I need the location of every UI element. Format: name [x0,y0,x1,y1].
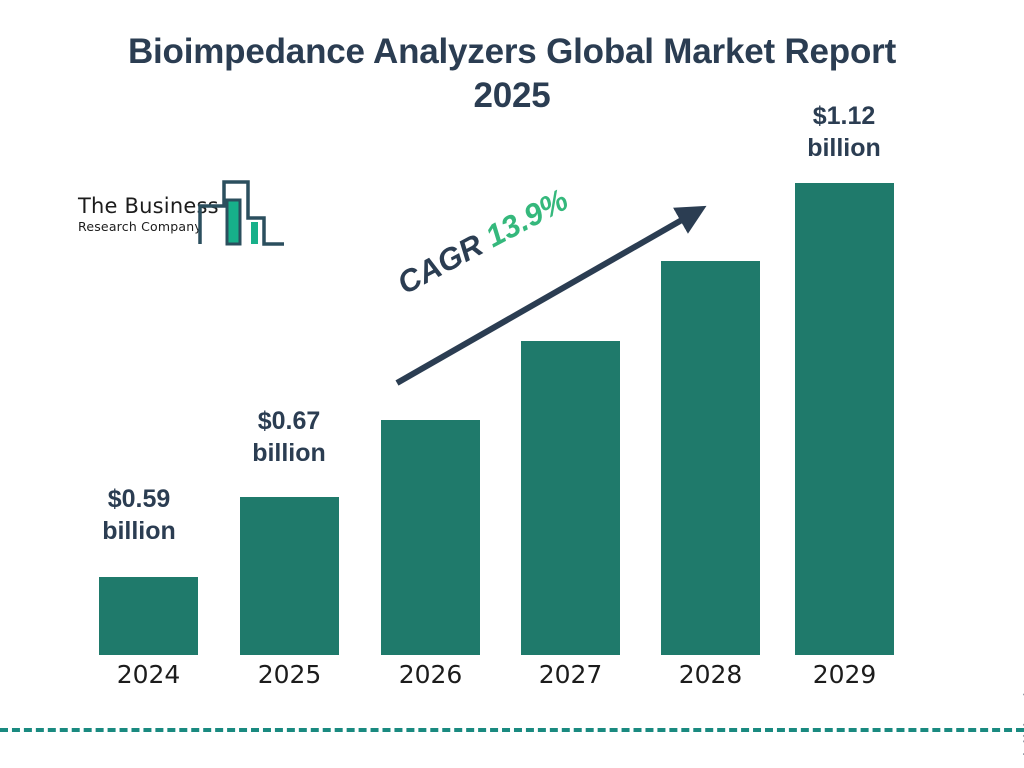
y-axis-title: Market Size (in USD billion) [1020,660,1024,768]
bar-value-unit-2025: billion [224,437,354,469]
x-tick-2025: 2025 [240,660,339,689]
bar-value-label-2025: $0.67 billion [224,405,354,469]
bar-value-amount-2024: $0.59 [74,483,204,515]
bar-2029 [795,183,894,655]
bar-value-amount-2029: $1.12 [779,100,909,132]
bar-value-label-2029: $1.12 billion [779,100,909,164]
bar-2028 [661,261,760,655]
bar-2025 [240,497,339,655]
x-tick-2029: 2029 [795,660,894,689]
bottom-divider [0,728,1024,732]
bar-value-label-2024: $0.59 billion [74,483,204,547]
bar-2024 [99,577,198,655]
x-tick-2026: 2026 [381,660,480,689]
chart-page: Bioimpedance Analyzers Global Market Rep… [0,0,1024,768]
x-tick-2024: 2024 [99,660,198,689]
bar-value-unit-2024: billion [74,515,204,547]
bar-2027 [521,341,620,655]
cagr-value-text: 13.9% [480,182,574,254]
cagr-annotation: CAGR 13.9% [392,182,575,302]
bar-value-unit-2029: billion [779,132,909,164]
bar-chart-plot: $0.59 billion $0.67 billion $1.12 billio… [0,0,1024,768]
cagr-label-text: CAGR [392,227,489,301]
x-tick-2027: 2027 [521,660,620,689]
x-tick-2028: 2028 [661,660,760,689]
bar-value-amount-2025: $0.67 [224,405,354,437]
bar-2026 [381,420,480,655]
